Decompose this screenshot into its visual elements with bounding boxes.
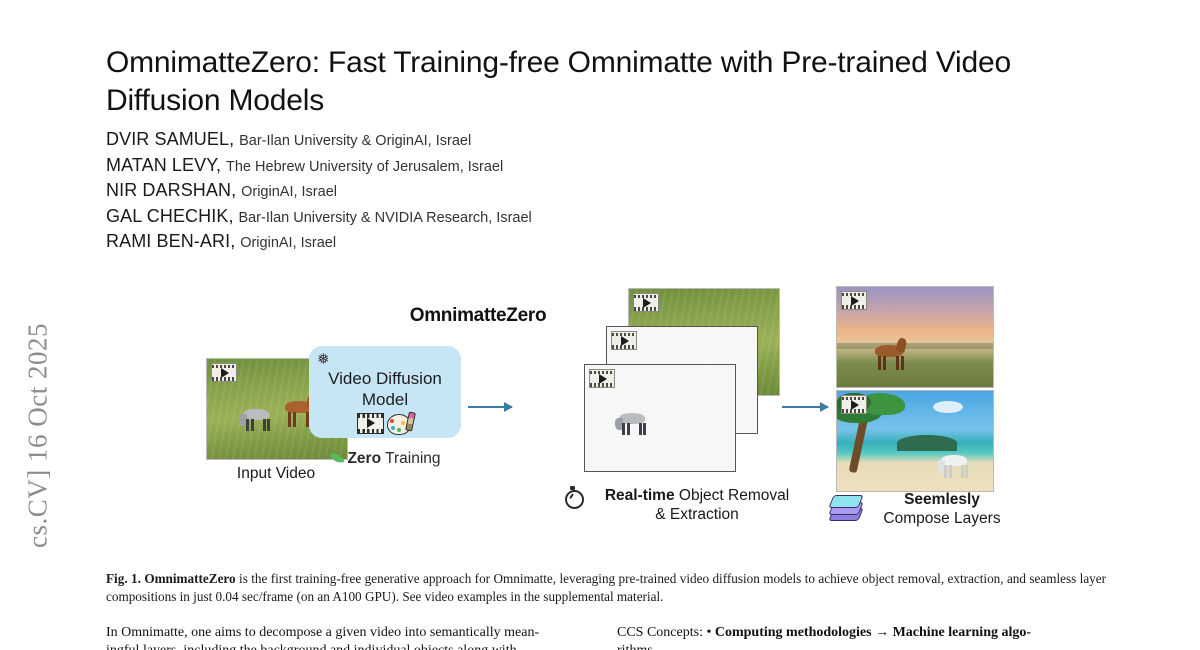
zero-bold: Zero xyxy=(347,450,381,467)
compose-layers-label: Seemlesly Compose Layers xyxy=(862,490,1022,528)
author-name: MATAN LEVY, xyxy=(106,155,221,175)
removal-line-2: & Extraction xyxy=(572,505,822,524)
play-icon xyxy=(841,291,867,310)
ccs-bold-2: Machine learning algo- xyxy=(893,625,1031,640)
cloud xyxy=(933,401,963,413)
author-affiliation: The Hebrew University of Jerusalem, Isra… xyxy=(226,159,503,175)
model-box-label: Video Diffusion Model xyxy=(309,368,461,410)
caption-prefix: Fig. 1. xyxy=(106,571,141,586)
snowflake-icon: ❅ xyxy=(317,350,330,368)
ccs-line-2: rithms. xyxy=(617,642,1106,650)
seemlesly-bold: Seemlesly xyxy=(904,491,980,508)
stacked-layers-icon xyxy=(828,492,862,520)
removal-rest: Object Removal xyxy=(675,487,790,504)
zero-training-label: Zero Training xyxy=(296,450,476,468)
author-row: GAL CHECHIK, Bar-Ilan University & NVIDI… xyxy=(106,205,926,231)
island xyxy=(897,435,957,451)
paper-page: cs.CV] 16 Oct 2025 OmnimatteZero: Fast T… xyxy=(0,0,1200,648)
white-horse xyxy=(933,453,975,481)
output-video-sunset xyxy=(836,286,994,388)
play-icon xyxy=(589,369,615,388)
ccs-concepts-line: CCS Concepts: • Computing methodologies … xyxy=(617,624,1106,642)
author-row: MATAN LEVY, The Hebrew University of Jer… xyxy=(106,154,926,180)
compose-line-2: Compose Layers xyxy=(862,509,1022,528)
body-left-line-1: In Omnimatte, one aims to decompose a gi… xyxy=(106,624,595,642)
layer-grey-horse xyxy=(584,364,736,472)
body-columns: In Omnimatte, one aims to decompose a gi… xyxy=(106,624,1106,650)
method-title: OmnimatteZero xyxy=(388,305,568,327)
ccs-bold-1: Computing methodologies xyxy=(715,625,872,640)
play-icon xyxy=(611,331,637,350)
author-row: DVIR SAMUEL, Bar-Ilan University & Origi… xyxy=(106,128,926,154)
grey-horse xyxy=(611,411,653,437)
author-affiliation: OriginAI, Israel xyxy=(241,184,337,200)
play-icon xyxy=(211,363,237,382)
author-name: DVIR SAMUEL, xyxy=(106,129,234,149)
caption-bold-name: OmnimatteZero xyxy=(144,571,235,586)
training-rest: Training xyxy=(381,450,440,467)
ccs-prefix: CCS Concepts: • xyxy=(617,625,715,640)
output-video-beach xyxy=(836,390,994,492)
caption-text: is the first training-free generative ap… xyxy=(106,571,1106,604)
author-name: GAL CHECHIK, xyxy=(106,206,234,226)
realtime-bold: Real-time xyxy=(605,487,675,504)
author-row: NIR DARSHAN, OriginAI, Israel xyxy=(106,179,926,205)
grey-horse xyxy=(235,407,277,433)
body-left-line-2: ingful layers, including the background … xyxy=(106,642,595,650)
body-column-right: CCS Concepts: • Computing methodologies … xyxy=(617,624,1106,650)
model-line-2: Model xyxy=(309,389,461,410)
author-affiliation: OriginAI, Israel xyxy=(240,235,336,251)
leaf-icon xyxy=(330,450,345,465)
author-name: NIR DARSHAN, xyxy=(106,180,236,200)
author-name: RAMI BEN-ARI, xyxy=(106,231,235,251)
ccs-arrow: → xyxy=(872,625,893,640)
author-list: DVIR SAMUEL, Bar-Ilan University & Origi… xyxy=(106,128,926,256)
film-icon xyxy=(357,413,384,434)
arrow-layers-to-output xyxy=(782,406,828,408)
object-removal-label: Real-time Object Removal & Extraction xyxy=(572,486,822,524)
author-affiliation: Bar-Ilan University & OriginAI, Israel xyxy=(239,133,471,149)
palette-icon xyxy=(387,412,413,434)
page-title: OmnimatteZero: Fast Training-free Omnima… xyxy=(106,44,1106,121)
arxiv-stamp: cs.CV] 16 Oct 2025 xyxy=(23,246,54,626)
video-diffusion-model-box: ❅ Video Diffusion Model xyxy=(309,346,461,438)
play-icon xyxy=(841,395,867,414)
body-column-left: In Omnimatte, one aims to decompose a gi… xyxy=(106,624,595,650)
arrow-model-to-layers xyxy=(468,406,512,408)
figure-caption: Fig. 1. OmnimatteZero is the first train… xyxy=(106,570,1106,605)
model-icon-row xyxy=(309,412,461,434)
model-line-1: Video Diffusion xyxy=(309,368,461,389)
play-icon xyxy=(633,293,659,312)
author-row: RAMI BEN-ARI, OriginAI, Israel xyxy=(106,230,926,256)
figure-1: OmnimatteZero In xyxy=(106,278,1106,548)
brown-horse xyxy=(871,339,917,371)
author-affiliation: Bar-Ilan University & NVIDIA Research, I… xyxy=(238,210,531,226)
